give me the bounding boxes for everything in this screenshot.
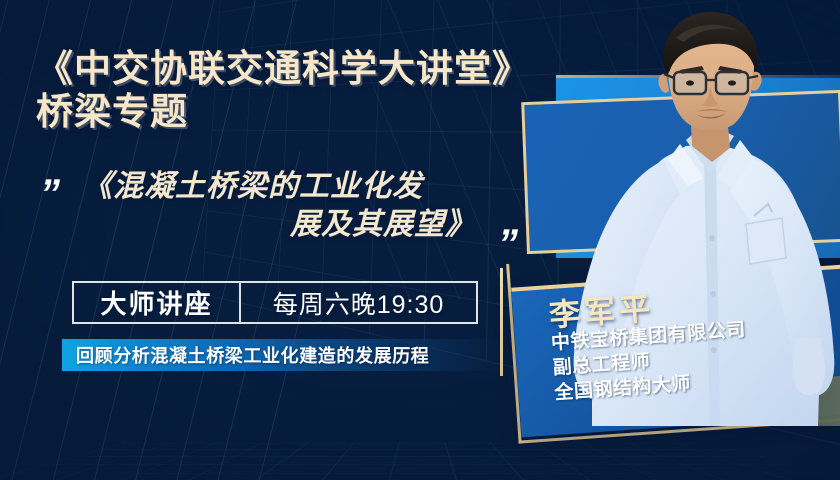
description-bar: 回顾分析混凝土桥梁工业化建造的发展历程 [62,339,502,371]
subtitle-line-1: 《混凝土桥梁的工业化发 [82,168,502,206]
title-line-2: 桥梁专题 [36,91,506,134]
lecture-subtitle: ” ” 《混凝土桥梁的工业化发 展及其展望》 [34,168,534,245]
lecture-series-label: 大师讲座 [74,284,239,321]
poster-canvas: 李军平 中铁宝桥集团有限公司 副总工程师 全国钢结构大师 《中交协联交通科学大讲… [0,0,840,480]
poster-title: 《中交协联交通科学大讲堂》 桥梁专题 [36,48,506,134]
quote-open-icon: ” [40,174,57,214]
subtitle-line-2: 展及其展望》 [82,206,502,244]
gold-vertical-accent [500,268,503,376]
description-text: 回顾分析混凝土桥梁工业化建造的发展历程 [62,342,429,368]
subtitle-text: 《混凝土桥梁的工业化发 展及其展望》 [82,168,502,245]
lecture-schedule: 每周六晚19:30 [241,285,476,321]
title-line-1: 《中交协联交通科学大讲堂》 [36,48,506,91]
speaker-info-text: 李军平 中铁宝桥集团有限公司 副总工程师 全国钢结构大师 [511,265,840,438]
lecture-info-box: 大师讲座 每周六晚19:30 [72,281,478,324]
quote-close-icon: ” [498,224,515,264]
